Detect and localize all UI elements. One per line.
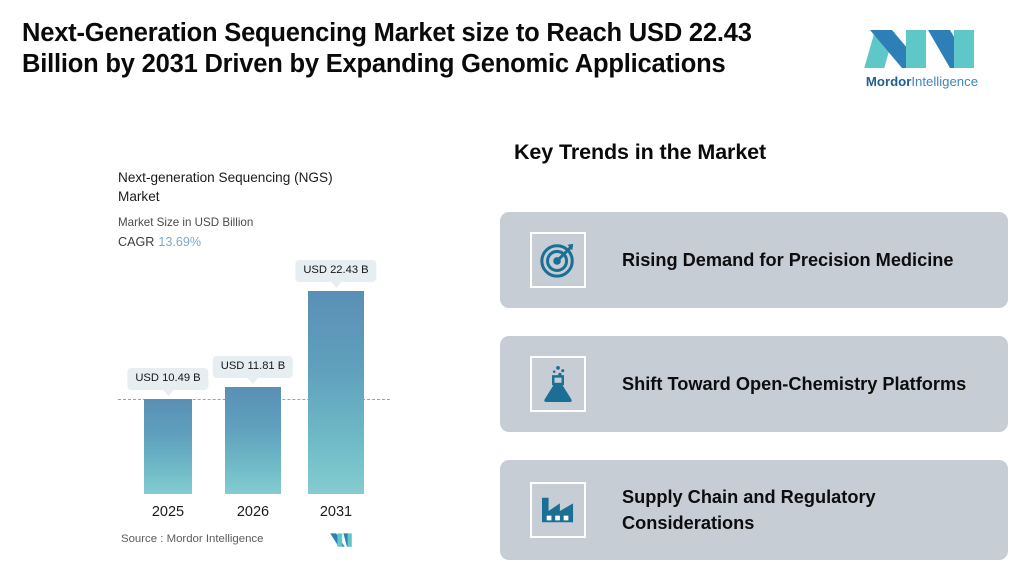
- bar-category-2026: 2026: [237, 504, 269, 520]
- page-title: Next-Generation Sequencing Market size t…: [22, 18, 812, 80]
- chart-source-text: Source : Mordor Intelligence: [121, 533, 263, 545]
- key-trends-heading: Key Trends in the Market: [514, 140, 766, 165]
- infographic-canvas: Next-Generation Sequencing Market size t…: [0, 0, 1030, 586]
- bar-2025[interactable]: [144, 399, 192, 494]
- brand-word-mordor: Mordor: [866, 74, 911, 89]
- bar-value-label-2025: USD 10.49 B: [127, 368, 208, 390]
- bar-category-2031: 2031: [320, 504, 352, 520]
- cagr-value: 13.69%: [158, 235, 201, 249]
- chart-subtitle: Market Size in USD Billion: [118, 215, 408, 231]
- mordor-logo-mark: [862, 20, 982, 72]
- bar-2031[interactable]: [308, 291, 364, 494]
- trend-label: Supply Chain and Regulatory Consideratio…: [622, 484, 972, 536]
- trend-card-open-chemistry[interactable]: Shift Toward Open-Chemistry Platforms: [500, 336, 1008, 432]
- cagr-label: CAGR: [118, 235, 154, 249]
- brand-word-intelligence: Intelligence: [911, 74, 978, 89]
- factory-icon: [530, 482, 586, 538]
- bar-value-label-2031: USD 22.43 B: [295, 260, 376, 282]
- chart-footer: Source : Mordor Intelligence: [121, 531, 407, 553]
- chart-cagr: CAGR13.69%: [118, 234, 408, 251]
- bar-category-2025: 2025: [152, 504, 184, 520]
- bar-group-2025: USD 10.49 B 2025: [140, 254, 196, 494]
- bar-group-2026: USD 11.81 B 2026: [225, 254, 281, 494]
- mordor-logo-mark-small: [329, 531, 353, 549]
- chart-plot-area: USD 10.49 B 2025 USD 11.81 B 2026 USD 22…: [118, 254, 408, 494]
- trend-label: Rising Demand for Precision Medicine: [622, 247, 954, 273]
- flask-icon: [530, 356, 586, 412]
- brand-wordmark: MordorIntelligence: [862, 74, 982, 90]
- trend-card-precision-medicine[interactable]: Rising Demand for Precision Medicine: [500, 212, 1008, 308]
- chart-title: Next-generation Sequencing (NGS) Market: [118, 168, 368, 206]
- bar-group-2031: USD 22.43 B 2031: [308, 254, 364, 494]
- mordor-intelligence-logo: MordorIntelligence: [862, 20, 982, 96]
- bar-value-label-2026: USD 11.81 B: [213, 356, 293, 378]
- target-icon: [530, 232, 586, 288]
- trend-label: Shift Toward Open-Chemistry Platforms: [622, 371, 966, 397]
- ngs-market-chart: Next-generation Sequencing (NGS) Market …: [118, 168, 408, 558]
- bar-2026[interactable]: [225, 387, 281, 494]
- trend-card-supply-chain[interactable]: Supply Chain and Regulatory Consideratio…: [500, 460, 1008, 560]
